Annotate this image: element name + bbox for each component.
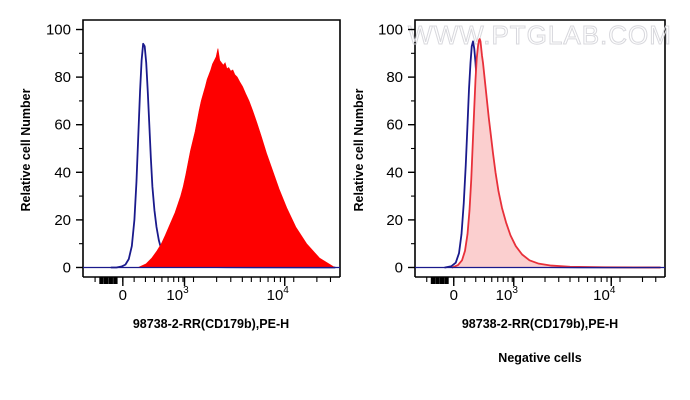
y-tick-label: 20: [386, 212, 403, 229]
panel-left-caption: 98738-2-RR(CD179b),PE-H: [133, 317, 289, 331]
y-tick-label: 40: [386, 164, 403, 181]
y-tick-label: 20: [54, 212, 71, 229]
y-tick-label: 0: [395, 259, 403, 276]
series-group-left: [83, 44, 340, 268]
watermark-text: WWW.PTGLAB.COM: [408, 20, 672, 50]
y-ticklabels-left: 020406080100: [46, 22, 71, 277]
x-ticks-right: [427, 277, 656, 286]
panel-right-caption: 98738-2-RR(CD179b),PE-H: [462, 317, 618, 331]
panel-left: 020406080100 0103104 Relative cell Numbe…: [0, 0, 345, 400]
x-ticks-left: [95, 277, 330, 286]
plot-right: WWW.PTGLAB.COM 020406080100 0103104: [378, 20, 672, 304]
y-tick-label: 80: [54, 69, 71, 86]
y-ticks-left: [76, 30, 83, 268]
x-tick-label: 104: [267, 285, 290, 304]
plot-frame-right: [415, 20, 665, 277]
panel-right-subcaption: Negative cells: [498, 351, 581, 365]
y-tick-label: 40: [54, 164, 71, 181]
y-tick-label: 100: [46, 22, 71, 39]
y-ticklabels-right: 020406080100: [378, 22, 403, 277]
series-group-right: [415, 39, 665, 267]
plot-left: 020406080100 0103104: [46, 20, 340, 304]
x-tick-label: 0: [450, 287, 458, 304]
x-ticklabels-right: 0103104: [450, 285, 616, 304]
y-ticks-right: [408, 30, 415, 268]
y-tick-label: 60: [386, 117, 403, 134]
panel-right: WWW.PTGLAB.COM 020406080100 0103104 Rela…: [345, 0, 690, 400]
panel-left-svg: 020406080100 0103104 Relative cell Numbe…: [0, 0, 345, 400]
y-tick-label: 0: [63, 259, 71, 276]
x-tick-label: 0: [119, 287, 127, 304]
x-tick-label: 104: [593, 285, 616, 304]
y-axis-title-right: Relative cell Number: [352, 88, 366, 211]
y-tick-label: 60: [54, 117, 71, 134]
y-axis-title-left: Relative cell Number: [19, 88, 33, 211]
y-tick-label: 100: [378, 22, 403, 39]
panel-right-svg: WWW.PTGLAB.COM 020406080100 0103104 Rela…: [345, 0, 690, 400]
x-ticklabels-left: 0103104: [119, 285, 290, 304]
y-tick-label: 80: [386, 69, 403, 86]
x-tick-label: 103: [166, 285, 189, 304]
x-tick-label: 103: [496, 285, 519, 304]
flow-cytometry-figure: 020406080100 0103104 Relative cell Numbe…: [0, 0, 690, 400]
histogram-area-sample: [138, 49, 335, 268]
